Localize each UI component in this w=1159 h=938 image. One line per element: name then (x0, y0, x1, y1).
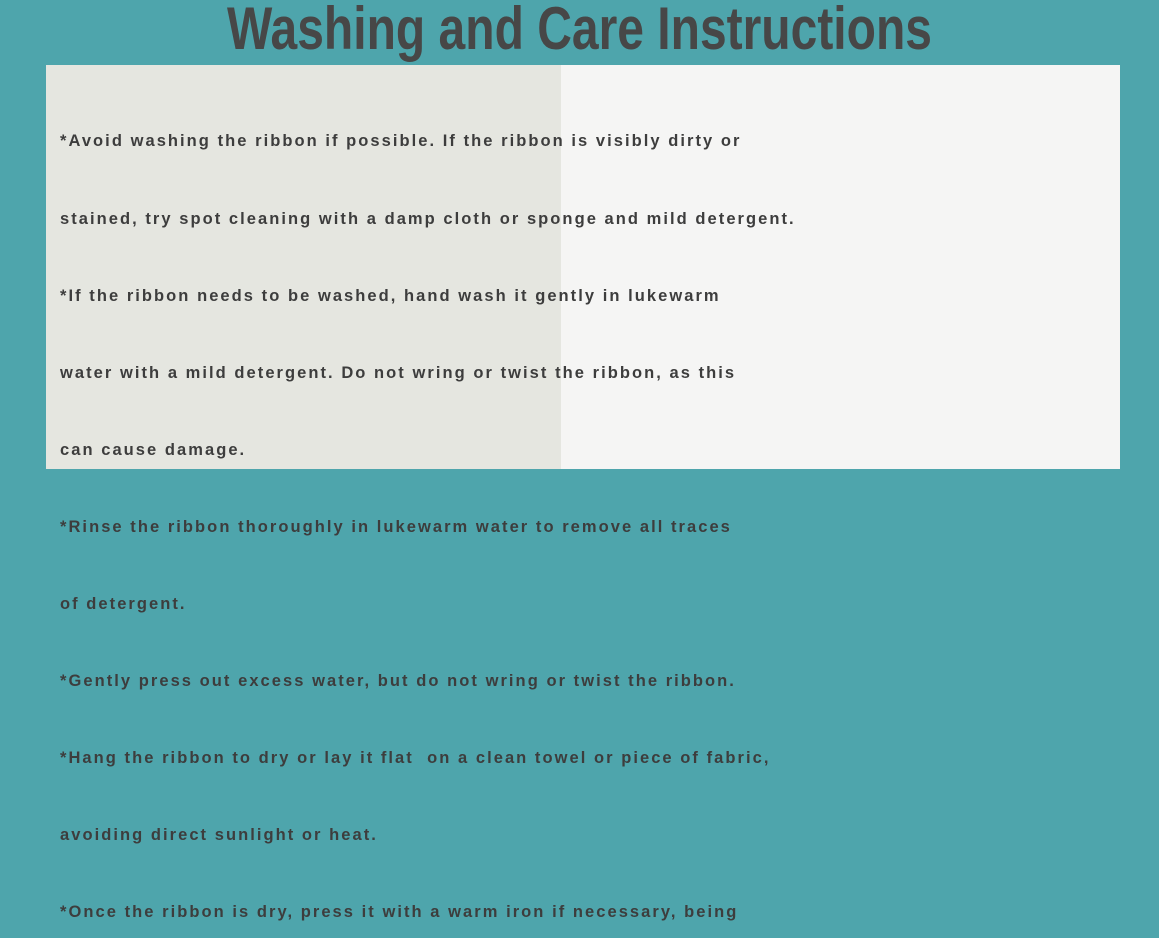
instruction-line: *Gently press out excess water, but do n… (60, 669, 1135, 695)
instruction-line: *Hang the ribbon to dry or lay it flat o… (60, 746, 1135, 772)
instruction-line: *Rinse the ribbon thoroughly in lukewarm… (60, 515, 1135, 541)
instruction-line: *Avoid washing the ribbon if possible. I… (60, 129, 1135, 155)
instruction-line: of detergent. (60, 592, 1135, 618)
poster-canvas: Washing and Care Instructions *Avoid was… (0, 0, 1159, 469)
instruction-line: can cause damage. (60, 438, 1135, 464)
instruction-line: water with a mild detergent. Do not wrin… (60, 361, 1135, 387)
instruction-line: *Once the ribbon is dry, press it with a… (60, 900, 1135, 926)
instruction-list: *Avoid washing the ribbon if possible. I… (60, 78, 1135, 438)
page-title: Washing and Care Instructions (116, 0, 1043, 60)
instruction-line: *If the ribbon needs to be washed, hand … (60, 284, 1135, 310)
instruction-line: stained, try spot cleaning with a damp c… (60, 207, 1135, 233)
instruction-line: avoiding direct sunlight or heat. (60, 823, 1135, 849)
